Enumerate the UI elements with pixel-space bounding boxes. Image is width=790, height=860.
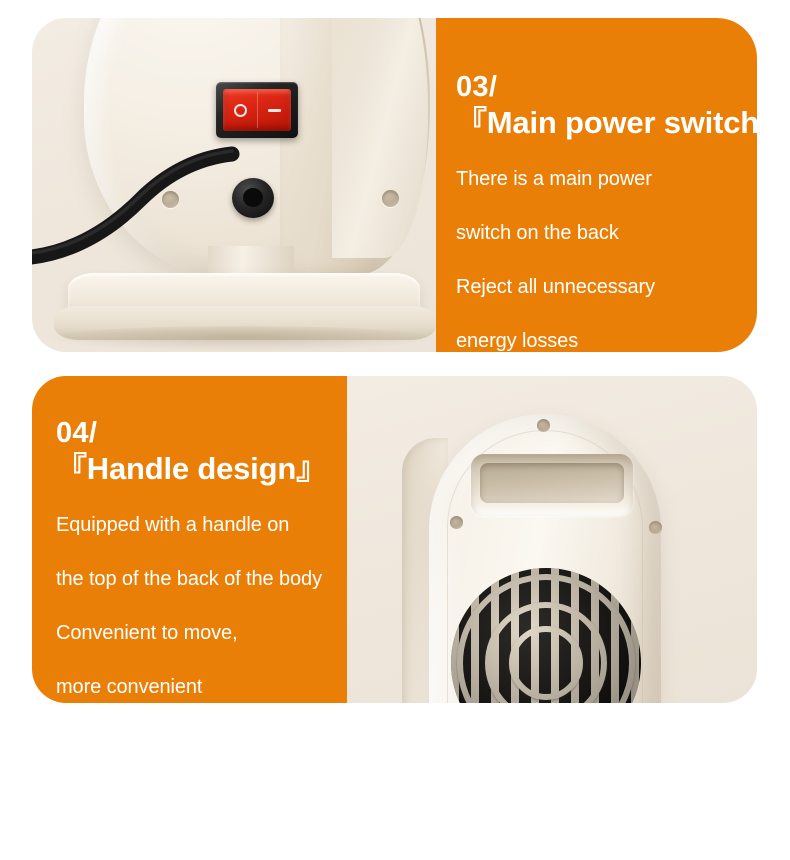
- section-03-text: 03/ 『Main power switch』 There is a main …: [456, 72, 757, 352]
- recessed-handle-cavity: [480, 463, 624, 503]
- power-on-icon: [268, 109, 281, 112]
- fan-grille-disc: [451, 568, 641, 703]
- section-04-text: 04/ 『Handle design』 Equipped with a hand…: [56, 418, 327, 703]
- power-off-icon: [234, 104, 247, 117]
- section-04-body-line: more convenient: [56, 670, 327, 703]
- screw-dimple: [450, 516, 463, 529]
- cord-grommet-hole: [243, 188, 263, 207]
- rocker-switch-seam: [257, 92, 258, 128]
- screw-dimple: [382, 190, 399, 207]
- section-03-copy-panel: 03/ 『Main power switch』 There is a main …: [436, 18, 757, 352]
- section-04-body-line: the top of the back of the body: [56, 562, 327, 596]
- section-03-body-line: There is a main power: [456, 162, 757, 196]
- screw-dimple: [649, 521, 662, 534]
- section-03-photo: [32, 18, 436, 352]
- section-04-body-line: Convenient to move,: [56, 616, 327, 650]
- cord-grommet: [232, 178, 274, 218]
- recessed-handle: [471, 454, 633, 516]
- rocker-switch: [216, 82, 298, 138]
- section-03-number: 03/: [456, 72, 757, 102]
- rocker-switch-face: [223, 89, 291, 131]
- section-04-copy-panel: 04/ 『Handle design』 Equipped with a hand…: [32, 376, 347, 703]
- screw-dimple: [537, 419, 550, 432]
- fan-grille: [451, 568, 641, 703]
- heater-base-shadow: [42, 326, 436, 352]
- marketing-page: 03/ 『Main power switch』 There is a main …: [0, 0, 790, 860]
- section-04-photo: [347, 376, 757, 703]
- section-04-body-line: Equipped with a handle on: [56, 508, 327, 542]
- section-03-body-line: switch on the back: [456, 216, 757, 250]
- heater-rear-rim-highlight: [332, 18, 428, 258]
- section-03-body-line: energy losses: [456, 324, 757, 352]
- section-04-number: 04/: [56, 418, 327, 448]
- section-04-title: 『Handle design』: [56, 450, 327, 488]
- section-03-body-line: Reject all unnecessary: [456, 270, 757, 304]
- fan-grille-ring: [509, 626, 583, 700]
- section-03-title: 『Main power switch』: [456, 104, 757, 142]
